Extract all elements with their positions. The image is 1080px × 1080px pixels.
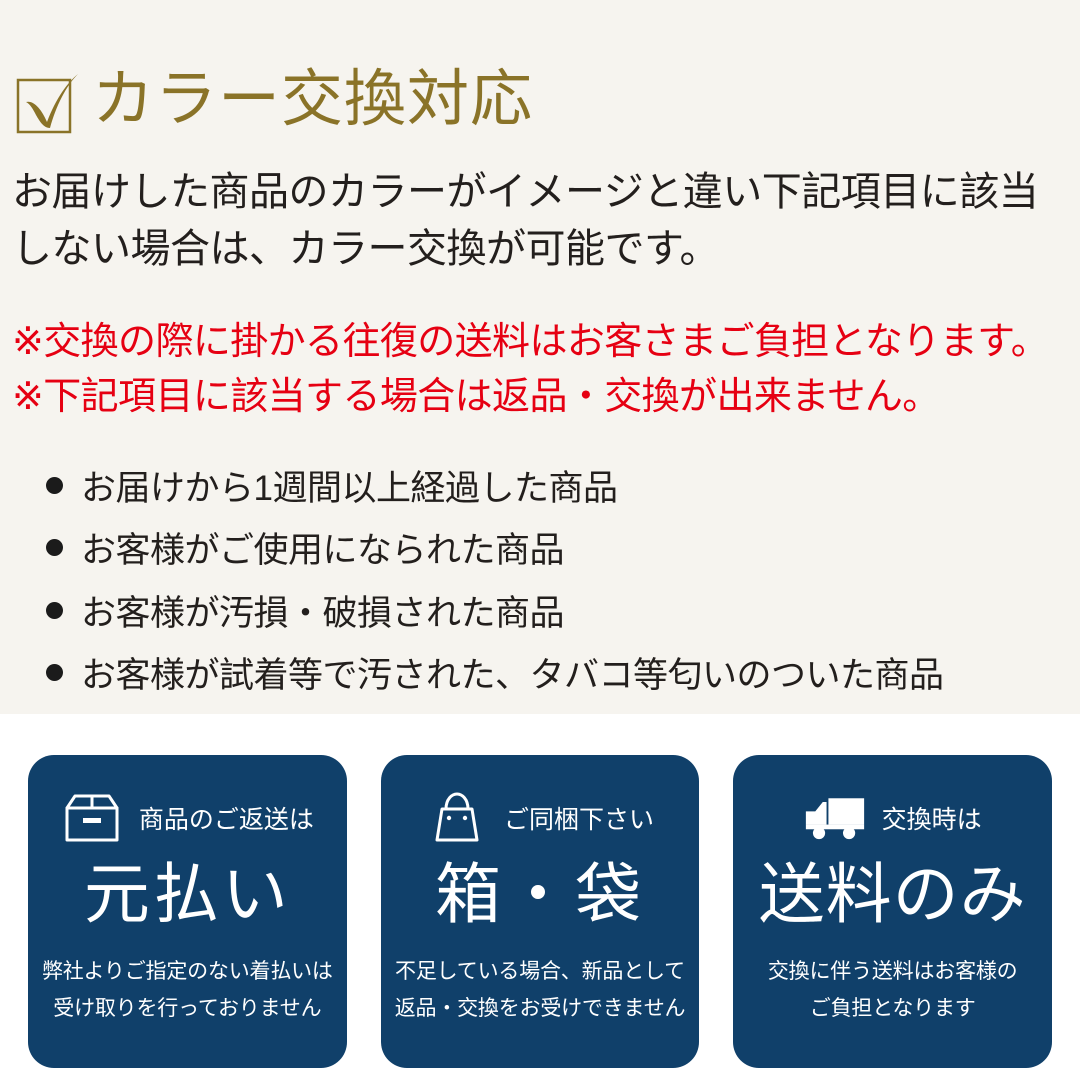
card-header: 商品のご返送は: [38, 787, 337, 849]
list-item: お客様が汚損・破損された商品: [46, 583, 1066, 645]
card-description-line: 不足している場合、新品として: [395, 954, 686, 991]
list-item-label: お客様が試着等で汚された、タバコ等匂いのついた商品: [81, 645, 944, 707]
box-icon: [61, 792, 123, 844]
card-header: 交換時は: [743, 787, 1042, 849]
list-item: お客様が試着等で汚された、タバコ等匂いのついた商品: [46, 645, 1066, 707]
policy-card-row: 商品のご返送は 元払い 弊社よりご指定のない着払いは 受け取りを行っておりません: [28, 755, 1052, 1068]
page-heading: カラー交換対応: [16, 66, 533, 134]
checkbox-checked-icon: [16, 72, 78, 134]
alert-note: ※交換の際に掛かる往復の送料はお客さまご負担となります。: [12, 315, 1072, 370]
list-item-label: お客様がご使用になられた商品: [81, 520, 564, 582]
delivery-truck-icon: [804, 792, 866, 844]
list-item-label: お届けから1週間以上経過した商品: [81, 458, 617, 520]
list-item-label: お客様が汚損・破損された商品: [81, 583, 564, 645]
card-eyebrow: 交換時は: [882, 800, 982, 836]
list-item: お客様がご使用になられた商品: [46, 520, 1066, 582]
card-description-line: 返品・交換をお受けできません: [395, 991, 686, 1028]
alert-note: ※下記項目に該当する場合は返品・交換が出来ません。: [12, 370, 1072, 425]
card-title: 送料のみ: [759, 855, 1027, 934]
card-description-line: 弊社よりご指定のない着払いは: [42, 954, 333, 991]
card-description-line: 交換に伴う送料はお客様の: [768, 954, 1018, 991]
shopping-bag-icon: [426, 792, 488, 844]
return-policy-page: カラー交換対応 お届けした商品のカラーがイメージと違い下記項目に該当しない場合は…: [0, 0, 1080, 1080]
policy-card-soryo-nomi: 交換時は 送料のみ 交換に伴う送料はお客様の ご負担となります: [733, 755, 1052, 1068]
card-description: 交換に伴う送料はお客様の ご負担となります: [768, 954, 1018, 1028]
policy-card-hako-fukuro: ご同梱下さい 箱・袋 不足している場合、新品として 返品・交換をお受けできません: [381, 755, 700, 1068]
condition-list: お届けから1週間以上経過した商品 お客様がご使用になられた商品 お客様が汚損・破…: [46, 458, 1066, 707]
bullet-dot-icon: [46, 602, 63, 619]
card-description-line: 受け取りを行っておりません: [42, 991, 333, 1028]
bullet-dot-icon: [46, 664, 63, 681]
card-eyebrow: 商品のご返送は: [139, 800, 314, 836]
list-item: お届けから1週間以上経過した商品: [46, 458, 1066, 520]
card-title: 箱・袋: [435, 855, 645, 934]
card-description: 不足している場合、新品として 返品・交換をお受けできません: [395, 954, 686, 1028]
bullet-dot-icon: [46, 539, 63, 556]
card-eyebrow: ご同梱下さい: [504, 800, 654, 836]
card-title: 元払い: [84, 855, 291, 934]
policy-card-moto-barai: 商品のご返送は 元払い 弊社よりご指定のない着払いは 受け取りを行っておりません: [28, 755, 347, 1068]
page-title: カラー交換対応: [92, 69, 533, 131]
card-description: 弊社よりご指定のない着払いは 受け取りを行っておりません: [42, 954, 333, 1028]
card-header: ご同梱下さい: [391, 787, 690, 849]
bullet-dot-icon: [46, 477, 63, 494]
card-description-line: ご負担となります: [768, 991, 1018, 1028]
lead-paragraph: お届けした商品のカラーがイメージと違い下記項目に該当しない場合は、カラー交換が可…: [12, 164, 1074, 278]
alert-notes: ※交換の際に掛かる往復の送料はお客さまご負担となります。 ※下記項目に該当する場…: [12, 315, 1072, 424]
